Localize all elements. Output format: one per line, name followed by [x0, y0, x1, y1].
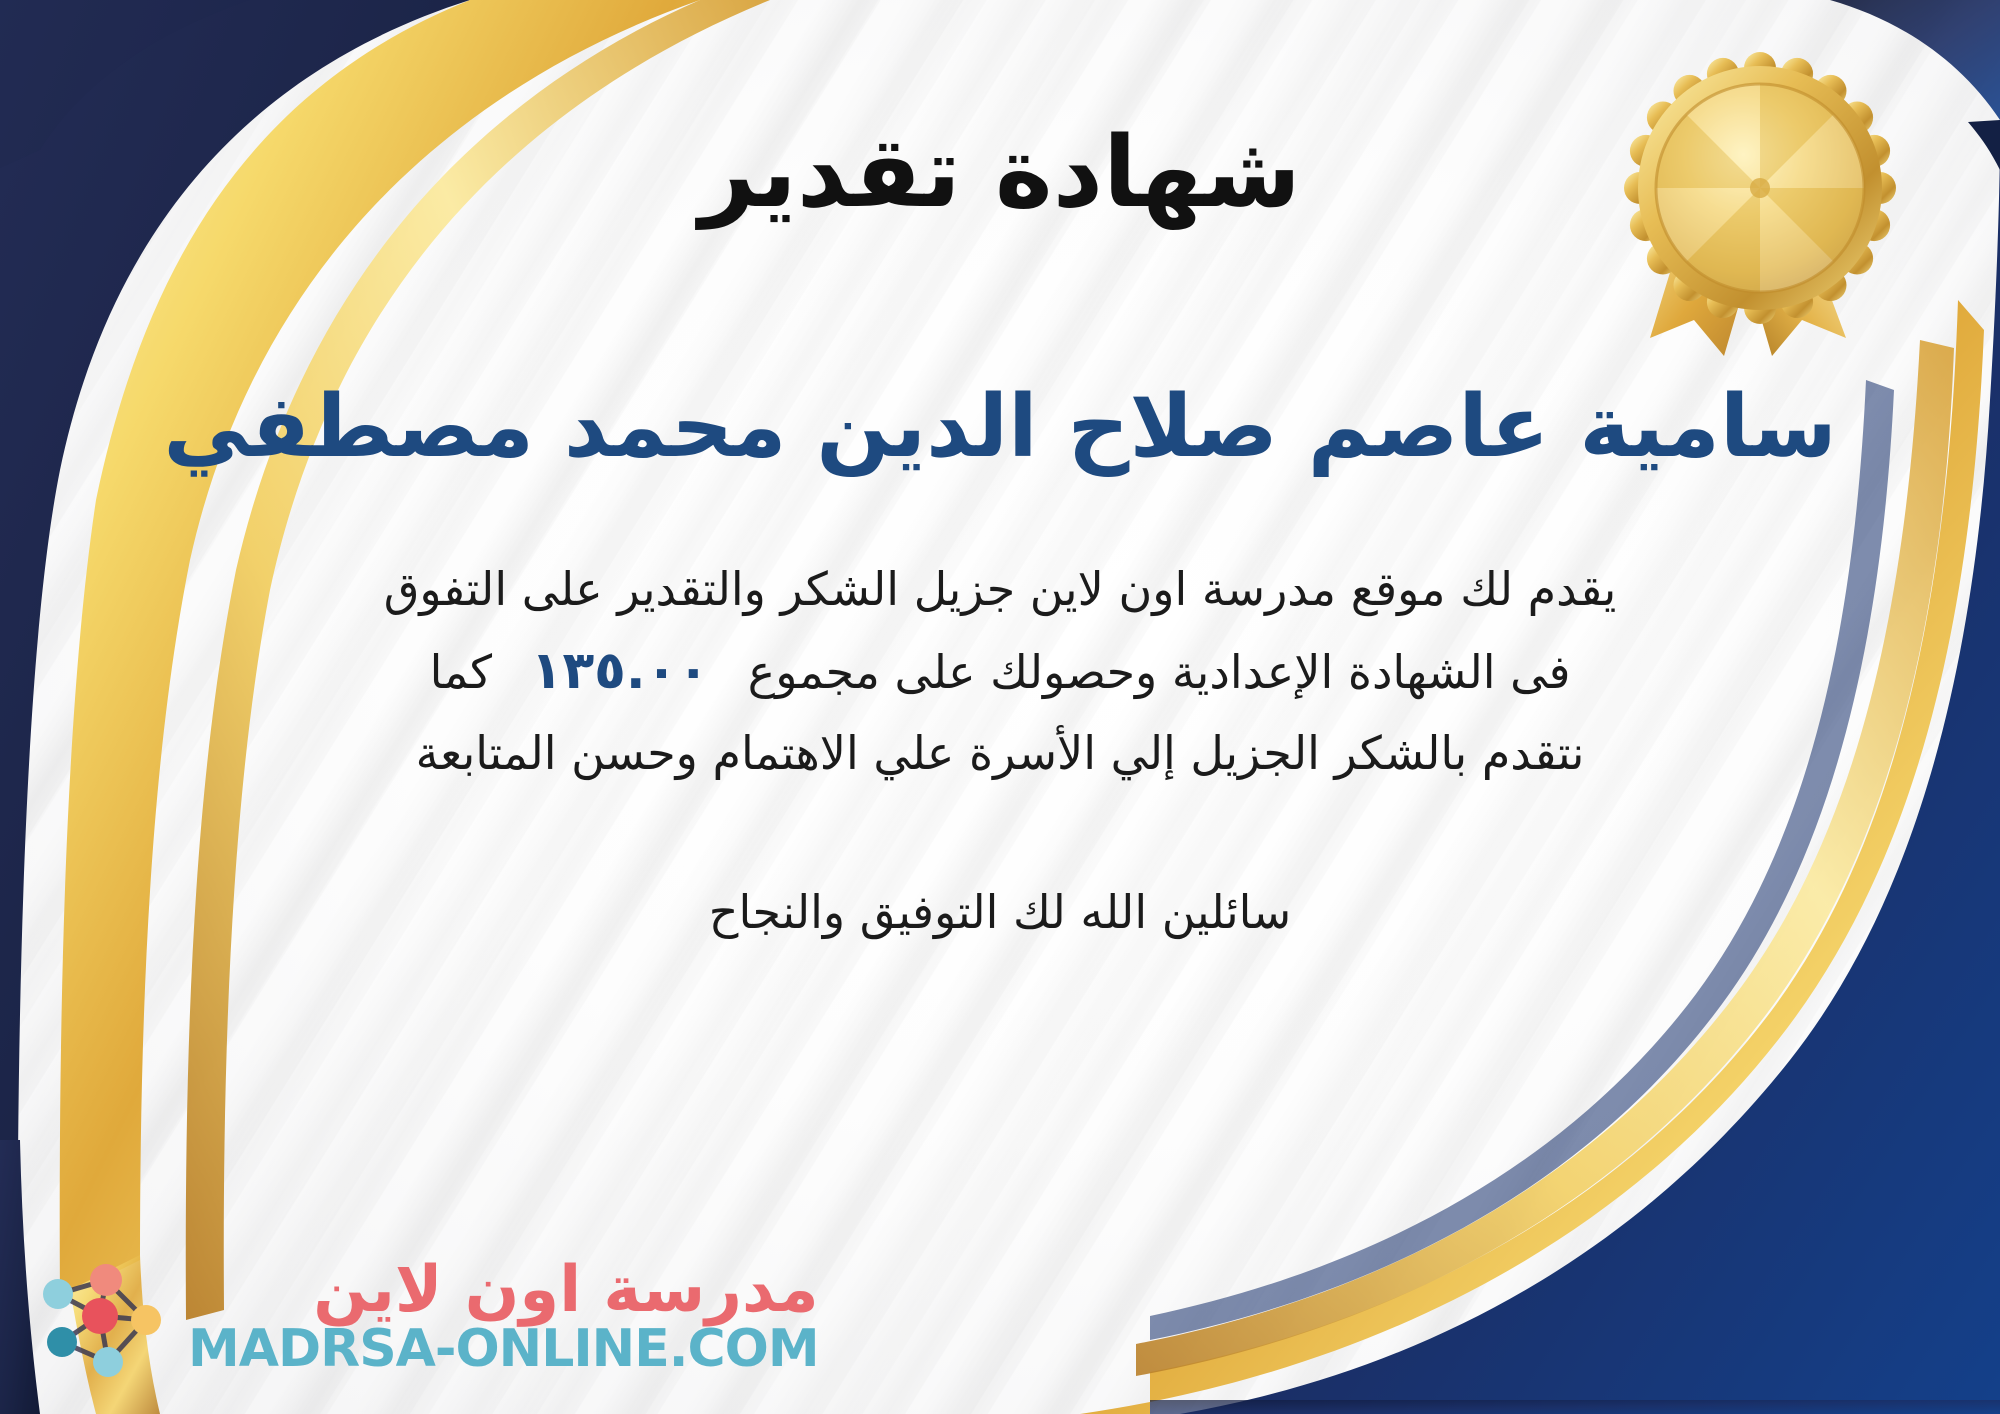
body-line-1: يقدم لك موقع مدرسة اون لاين جزيل الشكر و…	[110, 551, 1890, 628]
brand-name-arabic: مدرسة اون لاين	[313, 1258, 818, 1322]
recipient-name: سامية عاصم صلاح الدين محمد مصطفي	[123, 378, 1876, 477]
page-title: شهادة تقدير	[699, 120, 1301, 228]
body-line-2-suffix: كما	[430, 645, 493, 699]
body-line-2: فى الشهادة الإعدادية وحصولك على مجموع ١٣…	[110, 628, 1890, 715]
closing-wish: سائلين الله لك التوفيق والنجاح	[709, 885, 1291, 939]
certificate-canvas: شهادة تقدير سامية عاصم صلاح الدين محمد م…	[0, 0, 2000, 1414]
award-medal-icon	[1590, 38, 1930, 378]
brand-logo[interactable]: مدرسة اون لاين MADRSA-ONLINE.COM	[28, 1242, 819, 1392]
body-line-3: نتقدم بالشكر الجزيل إلي الأسرة علي الاهت…	[110, 715, 1890, 792]
certificate-body: يقدم لك موقع مدرسة اون لاين جزيل الشكر و…	[110, 551, 1890, 793]
brand-text-block: مدرسة اون لاين MADRSA-ONLINE.COM	[188, 1258, 819, 1377]
body-line-2-prefix: فى الشهادة الإعدادية وحصولك على مجموع	[748, 645, 1571, 699]
brand-domain: MADRSA-ONLINE.COM	[188, 1322, 819, 1377]
network-nodes-icon	[28, 1242, 178, 1392]
grade-total-value: ١٣٥.٠٠	[507, 628, 733, 715]
